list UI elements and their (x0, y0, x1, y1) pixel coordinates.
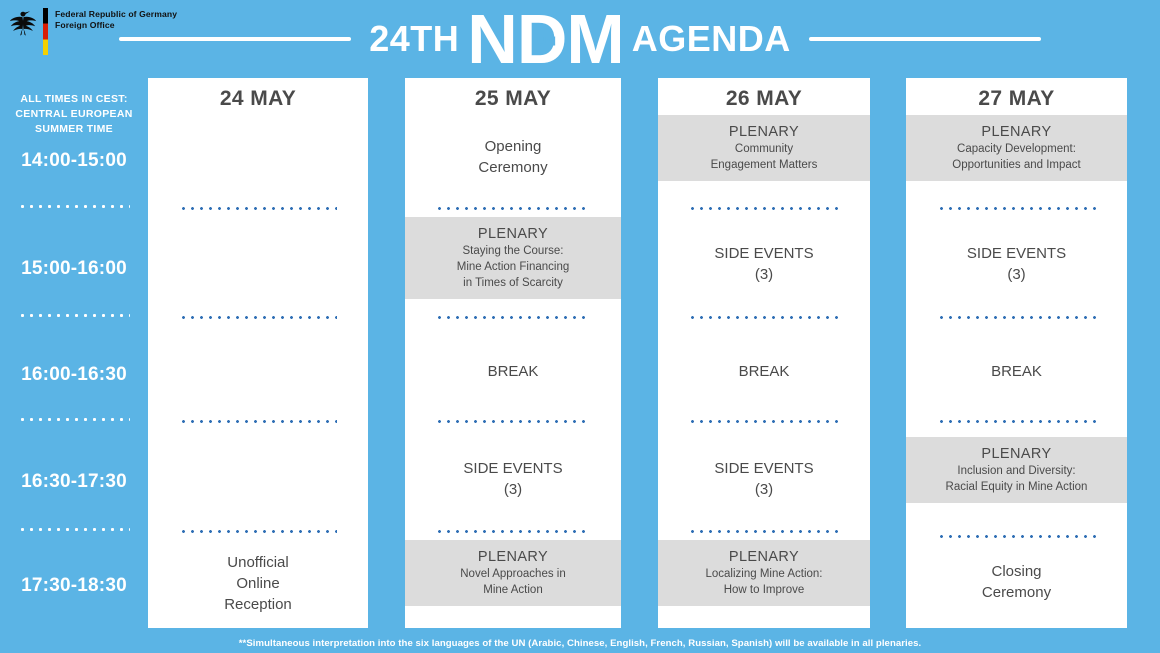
title-suffix: AGENDA (632, 18, 791, 60)
plenary-label-3-3: PLENARY (906, 437, 1127, 462)
plenary-label-1-4: PLENARY (405, 540, 621, 565)
timezone-note: ALL TIMES IN CEST: CENTRAL EUROPEAN SUMM… (0, 78, 148, 137)
cell-3-0[interactable]: PLENARY Capacity Development:Opportuniti… (906, 115, 1127, 181)
plenary-subtitle-2-0: CommunityEngagement Matters (658, 140, 870, 181)
cell-3-3[interactable]: PLENARY Inclusion and Diversity:Racial E… (906, 437, 1127, 503)
time-divider-1 (18, 314, 130, 317)
footer-note: **Simultaneous interpretation into the s… (0, 638, 1160, 649)
plenary-subtitle-2-4: Localizing Mine Action:How to Improve (658, 565, 870, 606)
day-divider-3-3 (937, 535, 1096, 538)
plenary-label-3-0: PLENARY (906, 115, 1127, 140)
cell-3-1[interactable]: SIDE EVENTS(3) (906, 243, 1127, 285)
plenary-subtitle-3-0: Capacity Development:Opportunities and I… (906, 140, 1127, 181)
cell-2-2[interactable]: BREAK (658, 361, 870, 382)
cell-1-1[interactable]: PLENARY Staying the Course:Mine Action F… (405, 217, 621, 299)
day-header-0: 24 MAY (148, 78, 368, 111)
agenda-grid: ALL TIMES IN CEST: CENTRAL EUROPEAN SUMM… (0, 78, 1160, 628)
cell-2-4[interactable]: PLENARY Localizing Mine Action:How to Im… (658, 540, 870, 606)
title-prefix: 24TH (369, 18, 459, 60)
title-rule-left (119, 37, 351, 41)
plenary-label-1-1: PLENARY (405, 217, 621, 242)
day-header-1: 25 MAY (405, 78, 621, 111)
day-divider-3-1 (937, 316, 1096, 319)
plenary-label-2-0: PLENARY (658, 115, 870, 140)
un-mark: UN (537, 33, 557, 48)
day-header-3: 27 MAY (906, 78, 1127, 111)
cell-1-3[interactable]: SIDE EVENTS(3) (405, 458, 621, 500)
day-header-2: 26 MAY (658, 78, 870, 111)
day-divider-0-0 (179, 207, 337, 210)
ndm-logo: NDM UN (467, 7, 623, 71)
header: Federal Republic of Germany Foreign Offi… (0, 0, 1160, 78)
title-row: 24TH NDM UN AGENDA (0, 0, 1160, 78)
day-divider-1-2 (435, 420, 591, 423)
cell-3-2[interactable]: BREAK (906, 361, 1127, 382)
timezone-note-line1: ALL TIMES IN CEST: (0, 92, 148, 107)
day-column-25-may: 25 MAY OpeningCeremony PLENARY Staying t… (405, 78, 621, 628)
time-column: ALL TIMES IN CEST: CENTRAL EUROPEAN SUMM… (0, 78, 148, 628)
day-column-26-may: 26 MAY PLENARY CommunityEngagement Matte… (658, 78, 870, 628)
plenary-label-2-4: PLENARY (658, 540, 870, 565)
plenary-subtitle-1-1: Staying the Course:Mine Action Financing… (405, 242, 621, 299)
cell-1-4[interactable]: PLENARY Novel Approaches inMine Action (405, 540, 621, 606)
time-slot-2: 16:00-16:30 (0, 364, 148, 386)
plenary-subtitle-3-3: Inclusion and Diversity:Racial Equity in… (906, 462, 1127, 503)
time-slot-0: 14:00-15:00 (0, 150, 148, 172)
cell-1-2[interactable]: BREAK (405, 361, 621, 382)
day-column-27-may: 27 MAY PLENARY Capacity Development:Oppo… (906, 78, 1127, 628)
time-divider-2 (18, 418, 130, 421)
day-divider-1-3 (435, 530, 591, 533)
time-divider-0 (18, 205, 130, 208)
day-divider-0-1 (179, 316, 337, 319)
day-column-24-may: 24 MAY UnofficialOnlineReception (148, 78, 368, 628)
day-divider-1-1 (435, 316, 591, 319)
time-slot-3: 16:30-17:30 (0, 471, 148, 493)
timezone-note-line2: CENTRAL EUROPEAN (0, 107, 148, 122)
time-slot-4: 17:30-18:30 (0, 575, 148, 597)
plenary-subtitle-1-4: Novel Approaches inMine Action (405, 565, 621, 606)
day-divider-3-0 (937, 207, 1096, 210)
day-divider-2-3 (688, 530, 841, 533)
time-divider-3 (18, 528, 130, 531)
timezone-note-line3: SUMMER TIME (0, 122, 148, 137)
day-divider-0-3 (179, 530, 337, 533)
cell-2-3[interactable]: SIDE EVENTS(3) (658, 458, 870, 500)
cell-0-4[interactable]: UnofficialOnlineReception (148, 552, 368, 615)
day-divider-3-2 (937, 420, 1096, 423)
day-divider-1-0 (435, 207, 591, 210)
day-divider-2-2 (688, 420, 841, 423)
title-rule-right (809, 37, 1041, 41)
cell-1-0[interactable]: OpeningCeremony (405, 136, 621, 178)
day-divider-2-0 (688, 207, 841, 210)
cell-2-0[interactable]: PLENARY CommunityEngagement Matters (658, 115, 870, 181)
day-divider-0-2 (179, 420, 337, 423)
cell-3-4[interactable]: ClosingCeremony (906, 561, 1127, 603)
cell-2-1[interactable]: SIDE EVENTS(3) (658, 243, 870, 285)
agenda-poster: Federal Republic of Germany Foreign Offi… (0, 0, 1160, 653)
time-slot-1: 15:00-16:00 (0, 258, 148, 280)
day-divider-2-1 (688, 316, 841, 319)
